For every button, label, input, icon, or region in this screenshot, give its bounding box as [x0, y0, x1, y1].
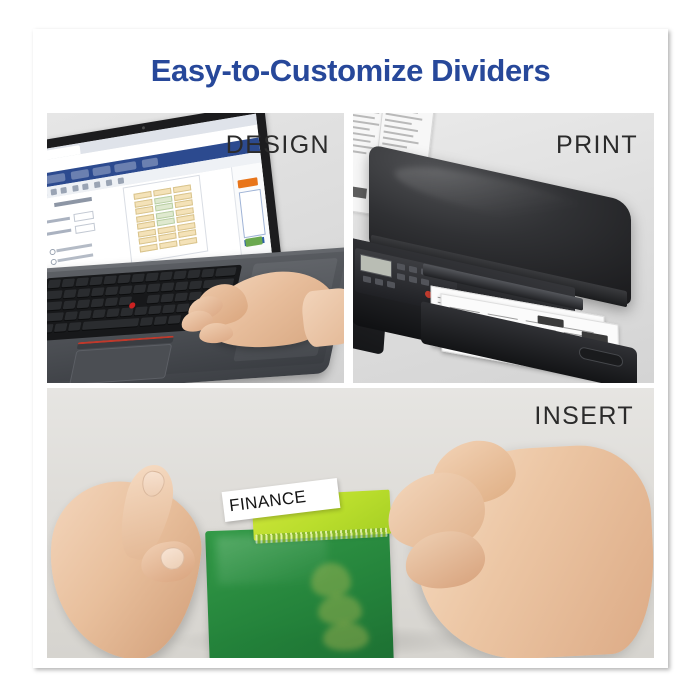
right-hand [377, 420, 653, 658]
product-image-canvas: Easy-to-Customize Dividers [0, 0, 700, 700]
design-options-pane [47, 194, 119, 274]
side-primary-button[interactable] [245, 236, 263, 247]
divider-tab-print [353, 185, 367, 199]
product-card: Easy-to-Customize Dividers [33, 29, 668, 668]
preview-thumbnail [239, 189, 266, 238]
trackpad[interactable] [69, 344, 172, 383]
pane-title [54, 197, 92, 207]
app-side-panel [231, 162, 273, 264]
step-label-insert: INSERT [534, 402, 634, 431]
lid-highlight [395, 156, 599, 237]
divider-sheet-preview [123, 175, 209, 264]
panel-insert: FINANCE INSERT [47, 388, 654, 658]
hand-on-laptop [179, 267, 344, 371]
laptop-photo [47, 121, 344, 383]
panel-design: DESIGN [47, 113, 344, 383]
panel-print: PRINT [353, 113, 654, 383]
color-swatch[interactable] [237, 177, 258, 188]
step-label-design: DESIGN [226, 131, 330, 160]
camera-icon [141, 126, 144, 129]
left-hand [49, 446, 257, 658]
label-grid [133, 184, 197, 253]
printer-display [360, 254, 392, 278]
page-title: Easy-to-Customize Dividers [33, 53, 668, 89]
step-label-print: PRINT [556, 131, 638, 160]
tray-handle[interactable] [579, 346, 623, 368]
